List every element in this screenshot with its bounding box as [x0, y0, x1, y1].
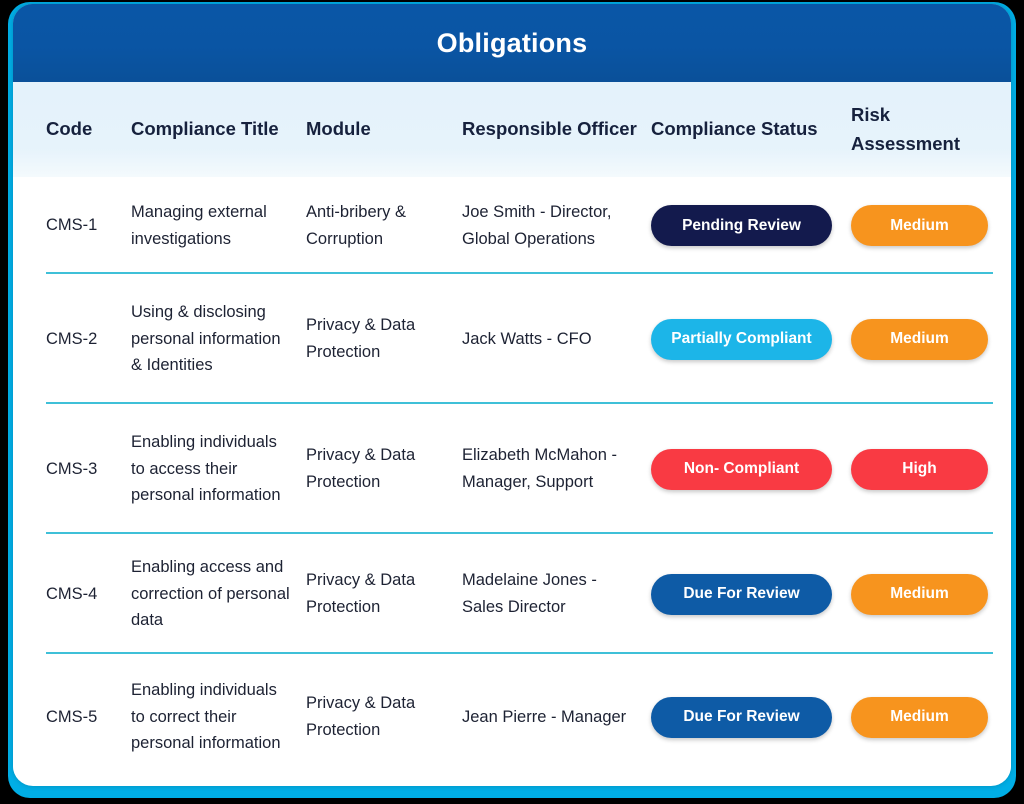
cell-module: Privacy & Data Protection: [306, 567, 462, 620]
status-badge[interactable]: Due For Review: [651, 697, 832, 738]
cell-officer: Jack Watts - CFO: [462, 326, 651, 353]
status-badge[interactable]: Pending Review: [651, 205, 832, 246]
table-outer-frame: Obligations Code Compliance Title Module…: [8, 2, 1016, 798]
cell-officer: Jean Pierre - Manager: [462, 704, 651, 731]
cell-code: CMS-1: [46, 212, 131, 239]
status-badge[interactable]: Due For Review: [651, 574, 832, 615]
cell-officer: Elizabeth McMahon - Manager, Support: [462, 442, 651, 495]
cell-officer: Madelaine Jones - Sales Director: [462, 567, 651, 620]
cell-status: Due For Review: [651, 574, 851, 615]
table-header-row: Code Compliance Title Module Responsible…: [13, 82, 1011, 177]
cell-risk: Medium: [851, 205, 1011, 246]
column-header-compliance-title: Compliance Title: [131, 115, 306, 143]
risk-badge[interactable]: Medium: [851, 319, 988, 360]
table-row[interactable]: CMS-3 Enabling individuals to access the…: [13, 404, 1011, 534]
cell-risk: Medium: [851, 574, 1011, 615]
risk-badge[interactable]: Medium: [851, 574, 988, 615]
cell-module: Anti-bribery & Corruption: [306, 199, 462, 252]
table-row[interactable]: CMS-5 Enabling individuals to correct th…: [13, 654, 1011, 780]
column-header-code: Code: [46, 115, 131, 143]
cell-code: CMS-3: [46, 456, 131, 483]
cell-status: Non- Compliant: [651, 449, 851, 490]
column-header-risk-assessment: Risk Assessment: [851, 101, 1011, 157]
column-header-responsible-officer: Responsible Officer: [462, 115, 651, 143]
cell-officer: Joe Smith - Director, Global Operations: [462, 199, 651, 252]
cell-title: Enabling access and correction of person…: [131, 554, 306, 634]
risk-badge[interactable]: Medium: [851, 205, 988, 246]
column-header-module: Module: [306, 115, 462, 143]
cell-risk: Medium: [851, 697, 1011, 738]
status-badge[interactable]: Non- Compliant: [651, 449, 832, 490]
table-row[interactable]: CMS-1 Managing external investigations A…: [13, 177, 1011, 274]
cell-status: Partially Compliant: [651, 319, 851, 360]
cell-status: Pending Review: [651, 205, 851, 246]
cell-title: Using & disclosing personal information …: [131, 299, 306, 379]
column-header-compliance-status: Compliance Status: [651, 115, 851, 143]
cell-title: Enabling individuals to access their per…: [131, 429, 306, 509]
cell-code: CMS-4: [46, 581, 131, 608]
cell-code: CMS-2: [46, 326, 131, 353]
cell-module: Privacy & Data Protection: [306, 690, 462, 743]
cell-title: Enabling individuals to correct their pe…: [131, 677, 306, 757]
cell-risk: Medium: [851, 319, 1011, 360]
table-row[interactable]: CMS-2 Using & disclosing personal inform…: [13, 274, 1011, 404]
risk-badge[interactable]: Medium: [851, 697, 988, 738]
cell-risk: High: [851, 449, 1011, 490]
page-title: Obligations: [437, 28, 588, 59]
cell-module: Privacy & Data Protection: [306, 442, 462, 495]
table-body: CMS-1 Managing external investigations A…: [13, 177, 1011, 780]
cell-code: CMS-5: [46, 704, 131, 731]
cell-status: Due For Review: [651, 697, 851, 738]
card-title-bar: Obligations: [13, 4, 1011, 82]
cell-title: Managing external investigations: [131, 199, 306, 252]
cell-module: Privacy & Data Protection: [306, 312, 462, 365]
obligations-card: Obligations Code Compliance Title Module…: [13, 4, 1011, 786]
risk-badge[interactable]: High: [851, 449, 988, 490]
table-row[interactable]: CMS-4 Enabling access and correction of …: [13, 534, 1011, 654]
status-badge[interactable]: Partially Compliant: [651, 319, 832, 360]
